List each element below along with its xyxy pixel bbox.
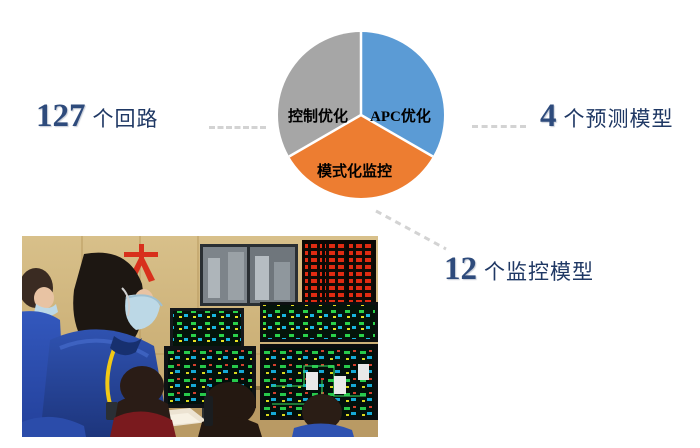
callout-predict-models-number: 4: [540, 100, 557, 133]
control-room-photo: [22, 236, 378, 437]
callout-monitor-models: 12 个监控模型: [444, 253, 594, 286]
pie-label-control-optimization: 控制优化: [288, 105, 348, 126]
connector-line-right: [472, 125, 526, 128]
control-room-photo-content: [22, 236, 378, 437]
callout-loops-number: 127: [36, 100, 86, 133]
pie-label-apc-optimization: APC优化: [370, 105, 431, 126]
callout-monitor-models-unit: 个监控模型: [484, 262, 594, 283]
pie-chart: APC优化 控制优化 模式化监控: [275, 29, 447, 201]
connector-line-diagonal: [372, 205, 452, 255]
callout-monitor-models-number: 12: [444, 253, 477, 286]
callout-loops-unit: 个回路: [93, 109, 159, 130]
callout-predict-models-unit: 个预测模型: [564, 109, 674, 130]
connector-line-left: [209, 126, 266, 129]
slide-canvas: APC优化 控制优化 模式化监控 127 个回路 4 个预测模型 12 个监控模…: [0, 0, 700, 448]
pie-label-modal-monitoring: 模式化监控: [317, 160, 392, 181]
callout-predict-models: 4 个预测模型: [540, 100, 674, 133]
callout-loops: 127 个回路: [36, 100, 159, 133]
